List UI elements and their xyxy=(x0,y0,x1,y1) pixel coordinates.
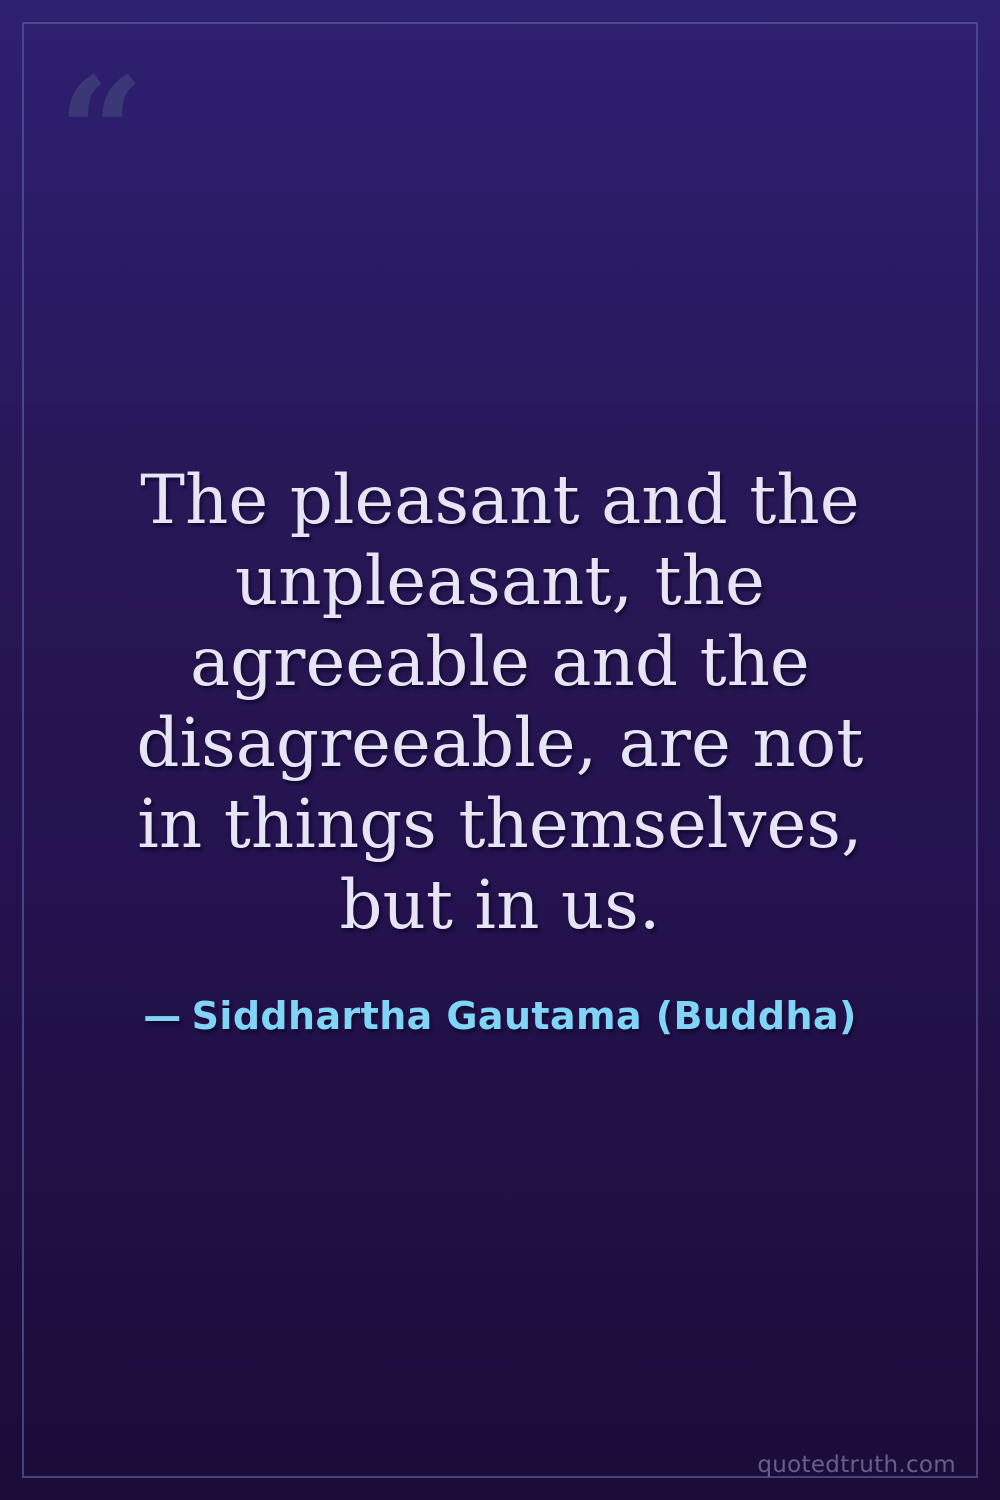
quote-content: The pleasant and the unpleasant, the agr… xyxy=(0,0,1000,1500)
quote-text: The pleasant and the unpleasant, the agr… xyxy=(120,460,880,946)
site-watermark: quotedtruth.com xyxy=(757,1452,956,1478)
quote-card: “ The pleasant and the unpleasant, the a… xyxy=(0,0,1000,1500)
attribution-dash: — xyxy=(143,994,181,1038)
quote-attribution: —Siddhartha Gautama (Buddha) xyxy=(120,994,880,1040)
attribution-author: Siddhartha Gautama (Buddha) xyxy=(192,994,857,1038)
